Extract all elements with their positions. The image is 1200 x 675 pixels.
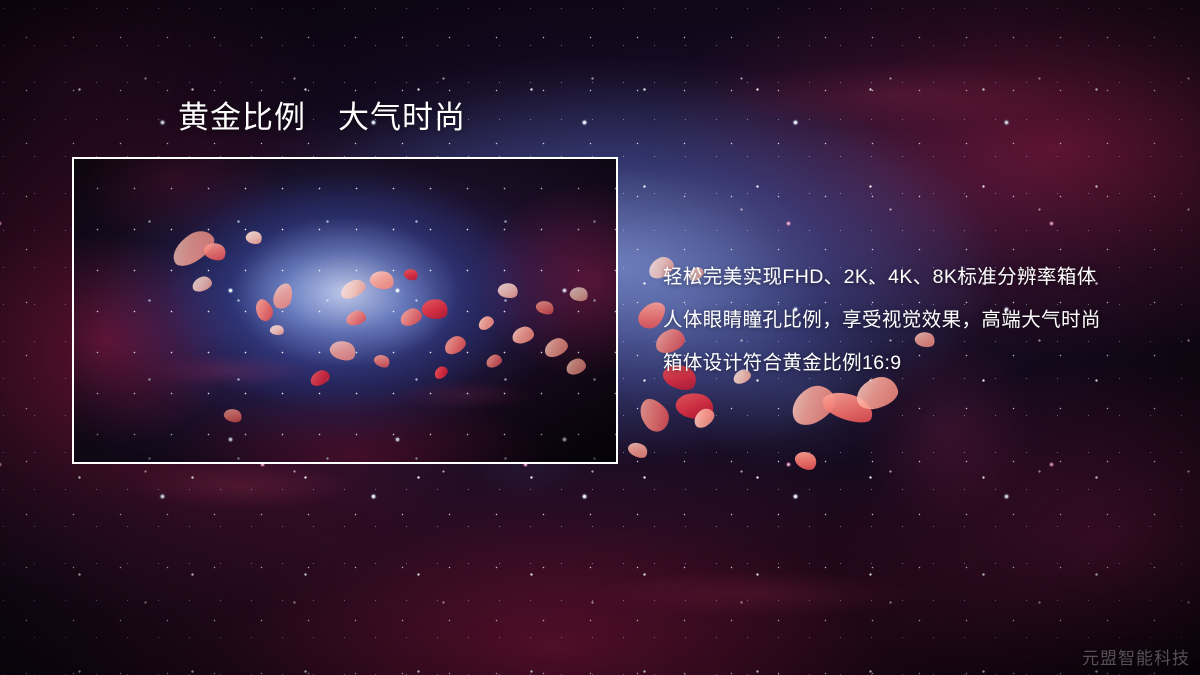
body-line-2: 人体眼睛瞳孔比例，享受视觉效果，高端大气时尚 [663, 299, 1163, 342]
petal [690, 405, 717, 431]
picture-vignette [74, 159, 616, 462]
petal [626, 439, 650, 461]
body-line-1: 轻松完美实现FHD、2K、4K、8K标准分辨率箱体 [663, 256, 1163, 299]
watermark: 元盟智能科技 [1082, 644, 1190, 669]
petal [633, 394, 675, 437]
presentation-slide: 黄金比例 大气时尚 轻松完美实现FHD、2K、4K、8K标准分辨率箱体 人体眼睛… [0, 0, 1200, 675]
petal [785, 379, 842, 431]
framed-picture [72, 157, 618, 464]
picture-content [74, 159, 616, 462]
body-text-block: 轻松完美实现FHD、2K、4K、8K标准分辨率箱体 人体眼睛瞳孔比例，享受视觉效… [663, 256, 1163, 385]
petal [673, 388, 717, 423]
petal [792, 447, 820, 473]
slide-title: 黄金比例 大气时尚 [178, 100, 466, 137]
body-line-3: 箱体设计符合黄金比例16:9 [663, 342, 1163, 385]
petal [819, 385, 877, 429]
